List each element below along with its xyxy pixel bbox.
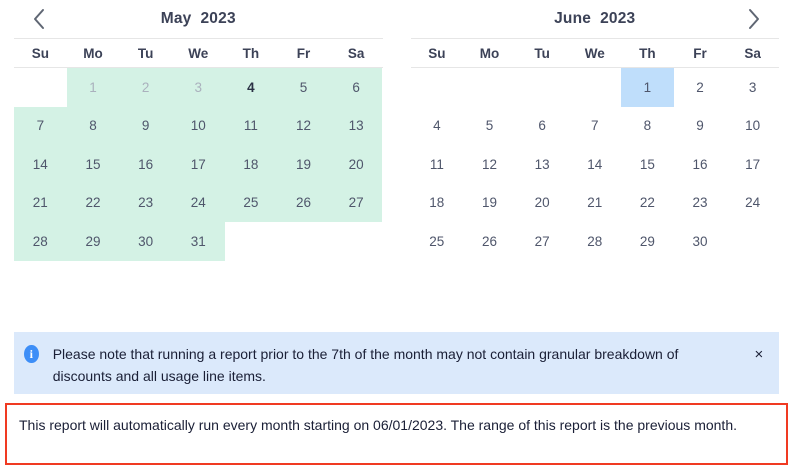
day-cell[interactable]: 13 bbox=[330, 107, 383, 146]
day-cell[interactable]: 28 bbox=[14, 222, 67, 261]
day-cell[interactable]: 3 bbox=[726, 68, 779, 107]
day-cell[interactable]: 18 bbox=[411, 184, 464, 223]
day-cell[interactable]: 23 bbox=[119, 184, 172, 223]
calendar-title-right: June 2023 bbox=[554, 10, 635, 28]
weekday-tu: Tu bbox=[119, 39, 172, 67]
day-cell[interactable]: 11 bbox=[225, 107, 278, 146]
day-cell[interactable]: 8 bbox=[67, 107, 120, 146]
day-cell[interactable]: 14 bbox=[14, 145, 67, 184]
weekday-mo: Mo bbox=[67, 39, 120, 67]
info-circle-icon: i bbox=[24, 345, 39, 363]
weekday-th: Th bbox=[225, 39, 278, 67]
day-cell[interactable]: 7 bbox=[568, 107, 621, 146]
calendar-month-right: June 2023 SuMoTuWeThFrSa 123456789101112… bbox=[397, 0, 793, 300]
day-cell[interactable]: 10 bbox=[172, 107, 225, 146]
schedule-note-text: This report will automatically run every… bbox=[19, 417, 737, 433]
day-cell[interactable]: 15 bbox=[67, 145, 120, 184]
day-cell[interactable]: 6 bbox=[330, 68, 383, 107]
day-cell-empty bbox=[14, 68, 67, 107]
day-cell[interactable]: 13 bbox=[516, 145, 569, 184]
weekday-we: We bbox=[172, 39, 225, 67]
day-cell[interactable]: 6 bbox=[516, 107, 569, 146]
info-banner: i Please note that running a report prio… bbox=[14, 332, 779, 394]
day-cell: 2 bbox=[119, 68, 172, 107]
calendar-header-right: June 2023 bbox=[411, 0, 780, 38]
day-cell[interactable]: 30 bbox=[119, 222, 172, 261]
day-cell[interactable]: 28 bbox=[568, 222, 621, 261]
day-cell[interactable]: 19 bbox=[463, 184, 516, 223]
day-cell[interactable]: 19 bbox=[277, 145, 330, 184]
schedule-note: This report will automatically run every… bbox=[5, 403, 788, 465]
weekday-su: Su bbox=[14, 39, 67, 67]
day-cell[interactable]: 14 bbox=[568, 145, 621, 184]
day-cell[interactable]: 5 bbox=[463, 107, 516, 146]
day-cell[interactable]: 25 bbox=[411, 222, 464, 261]
weekday-we: We bbox=[568, 39, 621, 67]
day-grid-left: 1234567891011121314151617181920212223242… bbox=[14, 68, 383, 261]
next-month-button[interactable] bbox=[739, 4, 769, 34]
calendar-title-left: May 2023 bbox=[161, 10, 236, 28]
day-cell[interactable]: 26 bbox=[277, 184, 330, 223]
day-cell: 3 bbox=[172, 68, 225, 107]
day-cell[interactable]: 1 bbox=[621, 68, 674, 107]
weekday-sa: Sa bbox=[726, 39, 779, 67]
date-range-picker: May 2023 SuMoTuWeThFrSa 1234567891011121… bbox=[0, 0, 793, 300]
day-cell[interactable]: 26 bbox=[463, 222, 516, 261]
day-cell[interactable]: 20 bbox=[330, 145, 383, 184]
day-cell[interactable]: 8 bbox=[621, 107, 674, 146]
day-cell[interactable]: 23 bbox=[674, 184, 727, 223]
day-cell[interactable]: 21 bbox=[568, 184, 621, 223]
chevron-right-icon bbox=[747, 8, 761, 30]
day-cell[interactable]: 17 bbox=[726, 145, 779, 184]
day-cell-empty bbox=[516, 68, 569, 107]
day-cell[interactable]: 7 bbox=[14, 107, 67, 146]
day-cell[interactable]: 22 bbox=[67, 184, 120, 223]
calendar-header-left: May 2023 bbox=[14, 0, 383, 38]
day-grid-right: 1234567891011121314151617181920212223242… bbox=[411, 68, 780, 261]
weekday-su: Su bbox=[411, 39, 464, 67]
weekday-fr: Fr bbox=[277, 39, 330, 67]
day-cell: 1 bbox=[67, 68, 120, 107]
day-cell[interactable]: 21 bbox=[14, 184, 67, 223]
weekday-tu: Tu bbox=[516, 39, 569, 67]
day-cell-empty bbox=[463, 68, 516, 107]
day-cell[interactable]: 12 bbox=[463, 145, 516, 184]
info-banner-message: Please note that running a report prior … bbox=[39, 343, 751, 387]
day-cell[interactable]: 9 bbox=[119, 107, 172, 146]
calendar-month-left: May 2023 SuMoTuWeThFrSa 1234567891011121… bbox=[0, 0, 397, 300]
day-cell[interactable]: 11 bbox=[411, 145, 464, 184]
day-cell[interactable]: 31 bbox=[172, 222, 225, 261]
day-cell-empty bbox=[568, 68, 621, 107]
weekday-mo: Mo bbox=[463, 39, 516, 67]
day-cell[interactable]: 2 bbox=[674, 68, 727, 107]
day-cell[interactable]: 20 bbox=[516, 184, 569, 223]
weekday-fr: Fr bbox=[674, 39, 727, 67]
day-cell[interactable]: 29 bbox=[67, 222, 120, 261]
day-cell[interactable]: 10 bbox=[726, 107, 779, 146]
day-cell[interactable]: 27 bbox=[516, 222, 569, 261]
day-cell[interactable]: 27 bbox=[330, 184, 383, 223]
day-cell[interactable]: 5 bbox=[277, 68, 330, 107]
day-cell[interactable]: 25 bbox=[225, 184, 278, 223]
day-cell[interactable]: 15 bbox=[621, 145, 674, 184]
day-cell[interactable]: 24 bbox=[172, 184, 225, 223]
day-cell[interactable]: 30 bbox=[674, 222, 727, 261]
day-cell[interactable]: 12 bbox=[277, 107, 330, 146]
day-cell[interactable]: 17 bbox=[172, 145, 225, 184]
weekday-header-right: SuMoTuWeThFrSa bbox=[411, 38, 780, 68]
day-cell[interactable]: 9 bbox=[674, 107, 727, 146]
day-cell-empty bbox=[411, 68, 464, 107]
prev-month-button[interactable] bbox=[24, 4, 54, 34]
day-cell[interactable]: 29 bbox=[621, 222, 674, 261]
chevron-left-icon bbox=[32, 8, 46, 30]
weekday-th: Th bbox=[621, 39, 674, 67]
day-cell[interactable]: 24 bbox=[726, 184, 779, 223]
weekday-sa: Sa bbox=[330, 39, 383, 67]
close-icon[interactable]: × bbox=[751, 344, 767, 364]
day-cell[interactable]: 16 bbox=[119, 145, 172, 184]
day-cell[interactable]: 4 bbox=[225, 68, 278, 107]
day-cell[interactable]: 16 bbox=[674, 145, 727, 184]
day-cell[interactable]: 18 bbox=[225, 145, 278, 184]
day-cell[interactable]: 4 bbox=[411, 107, 464, 146]
weekday-header-left: SuMoTuWeThFrSa bbox=[14, 38, 383, 68]
day-cell[interactable]: 22 bbox=[621, 184, 674, 223]
